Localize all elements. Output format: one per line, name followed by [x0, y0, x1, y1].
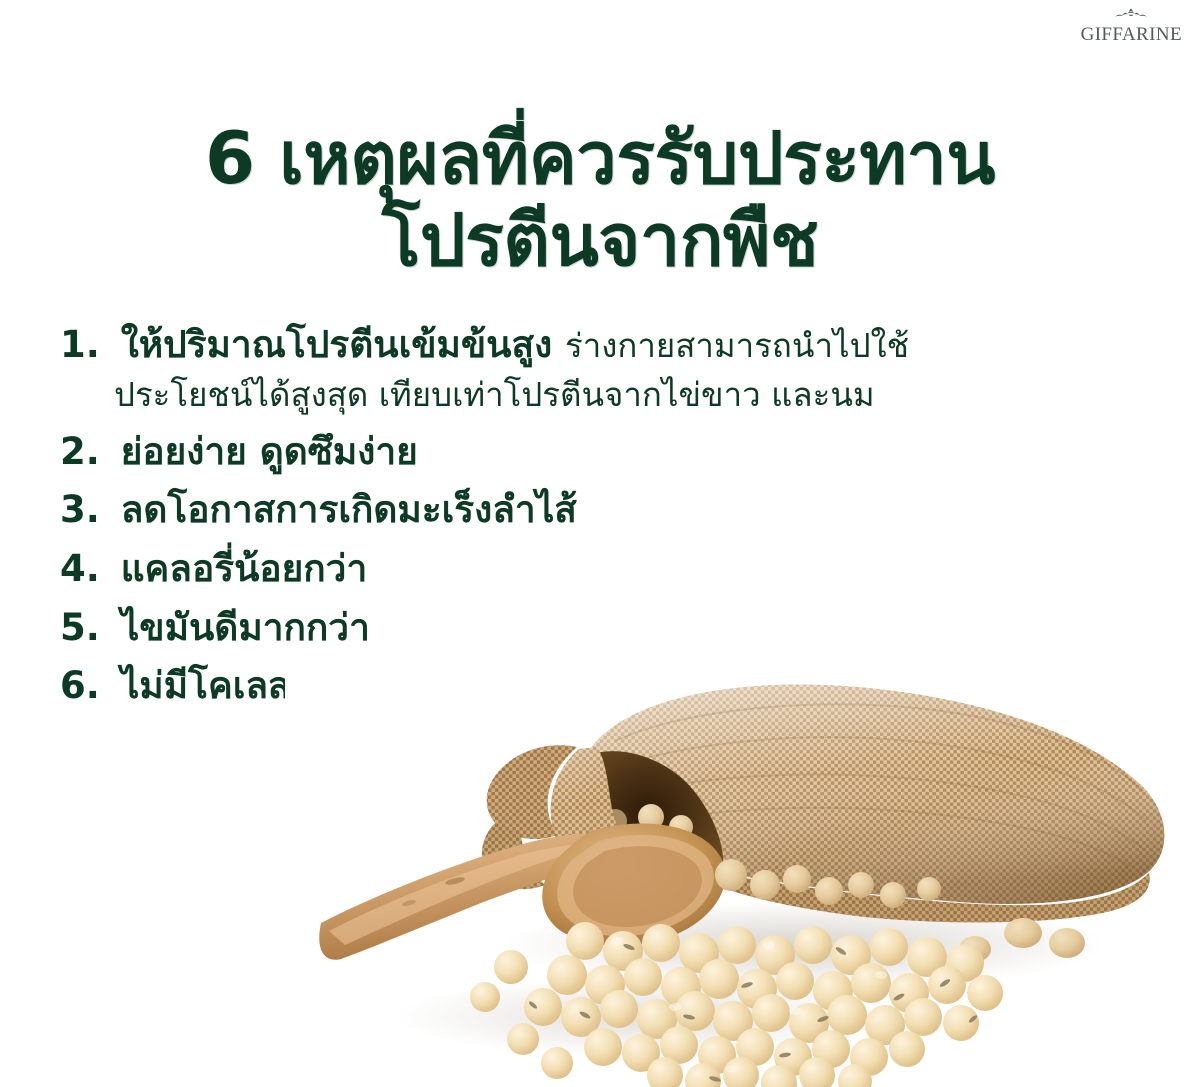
list-item-label: ลดโอกาสการเกิดมะเร็งลำไส้ [121, 488, 577, 531]
page-title-line-1: 6 เหตุผลที่ควรรับประทาน [0, 122, 1200, 195]
list-item-label: แคลอรี่น้อยกว่า [121, 547, 368, 590]
floral-ornament-icon [1114, 8, 1148, 17]
list-item-number: 4. [60, 547, 100, 590]
list-item-detail-continuation: ประโยชน์ได้สูงสุด เทียบเท่าโปรตีนจากไข่ข… [60, 375, 1150, 415]
list-item-number: 5. [60, 606, 100, 649]
list-item-label: ย่อยง่าย ดูดซึมง่าย [121, 430, 418, 473]
list-item-number: 6. [60, 664, 100, 707]
poster-canvas: Giffarine 6 เหตุผลที่ควรรับประทาน โปรตีน… [0, 0, 1200, 1087]
list-item-label: ไขมันดีมากกว่า [121, 606, 370, 649]
list-item-label: ให้ปริมาณโปรตีนเข้มข้นสูง [121, 323, 552, 366]
list-item-number: 2. [60, 430, 100, 473]
list-item: 4. แคลอรี่น้อยกว่า [60, 546, 1150, 593]
list-item-number: 1. [60, 323, 100, 366]
list-item: 2. ย่อยง่าย ดูดซึมง่าย [60, 429, 1150, 476]
list-item-number: 3. [60, 488, 100, 531]
page-title-line-2: โปรตีนจากพืช [0, 204, 1200, 277]
page-title: 6 เหตุผลที่ควรรับประทาน โปรตีนจากพืช [0, 122, 1200, 277]
list-item: 3. ลดโอกาสการเกิดมะเร็งลำไส้ [60, 487, 1150, 534]
list-item: 1. ให้ปริมาณโปรตีนเข้มข้นสูง ร่างกายสามา… [60, 322, 1150, 369]
brand-logo: Giffarine [1081, 8, 1182, 45]
soybeans-in-burlap-sack-with-wooden-spoon-image [285, 645, 1200, 1087]
list-item-detail: ร่างกายสามารถนำไปใช้ [565, 326, 909, 365]
brand-name: Giffarine [1081, 18, 1182, 45]
